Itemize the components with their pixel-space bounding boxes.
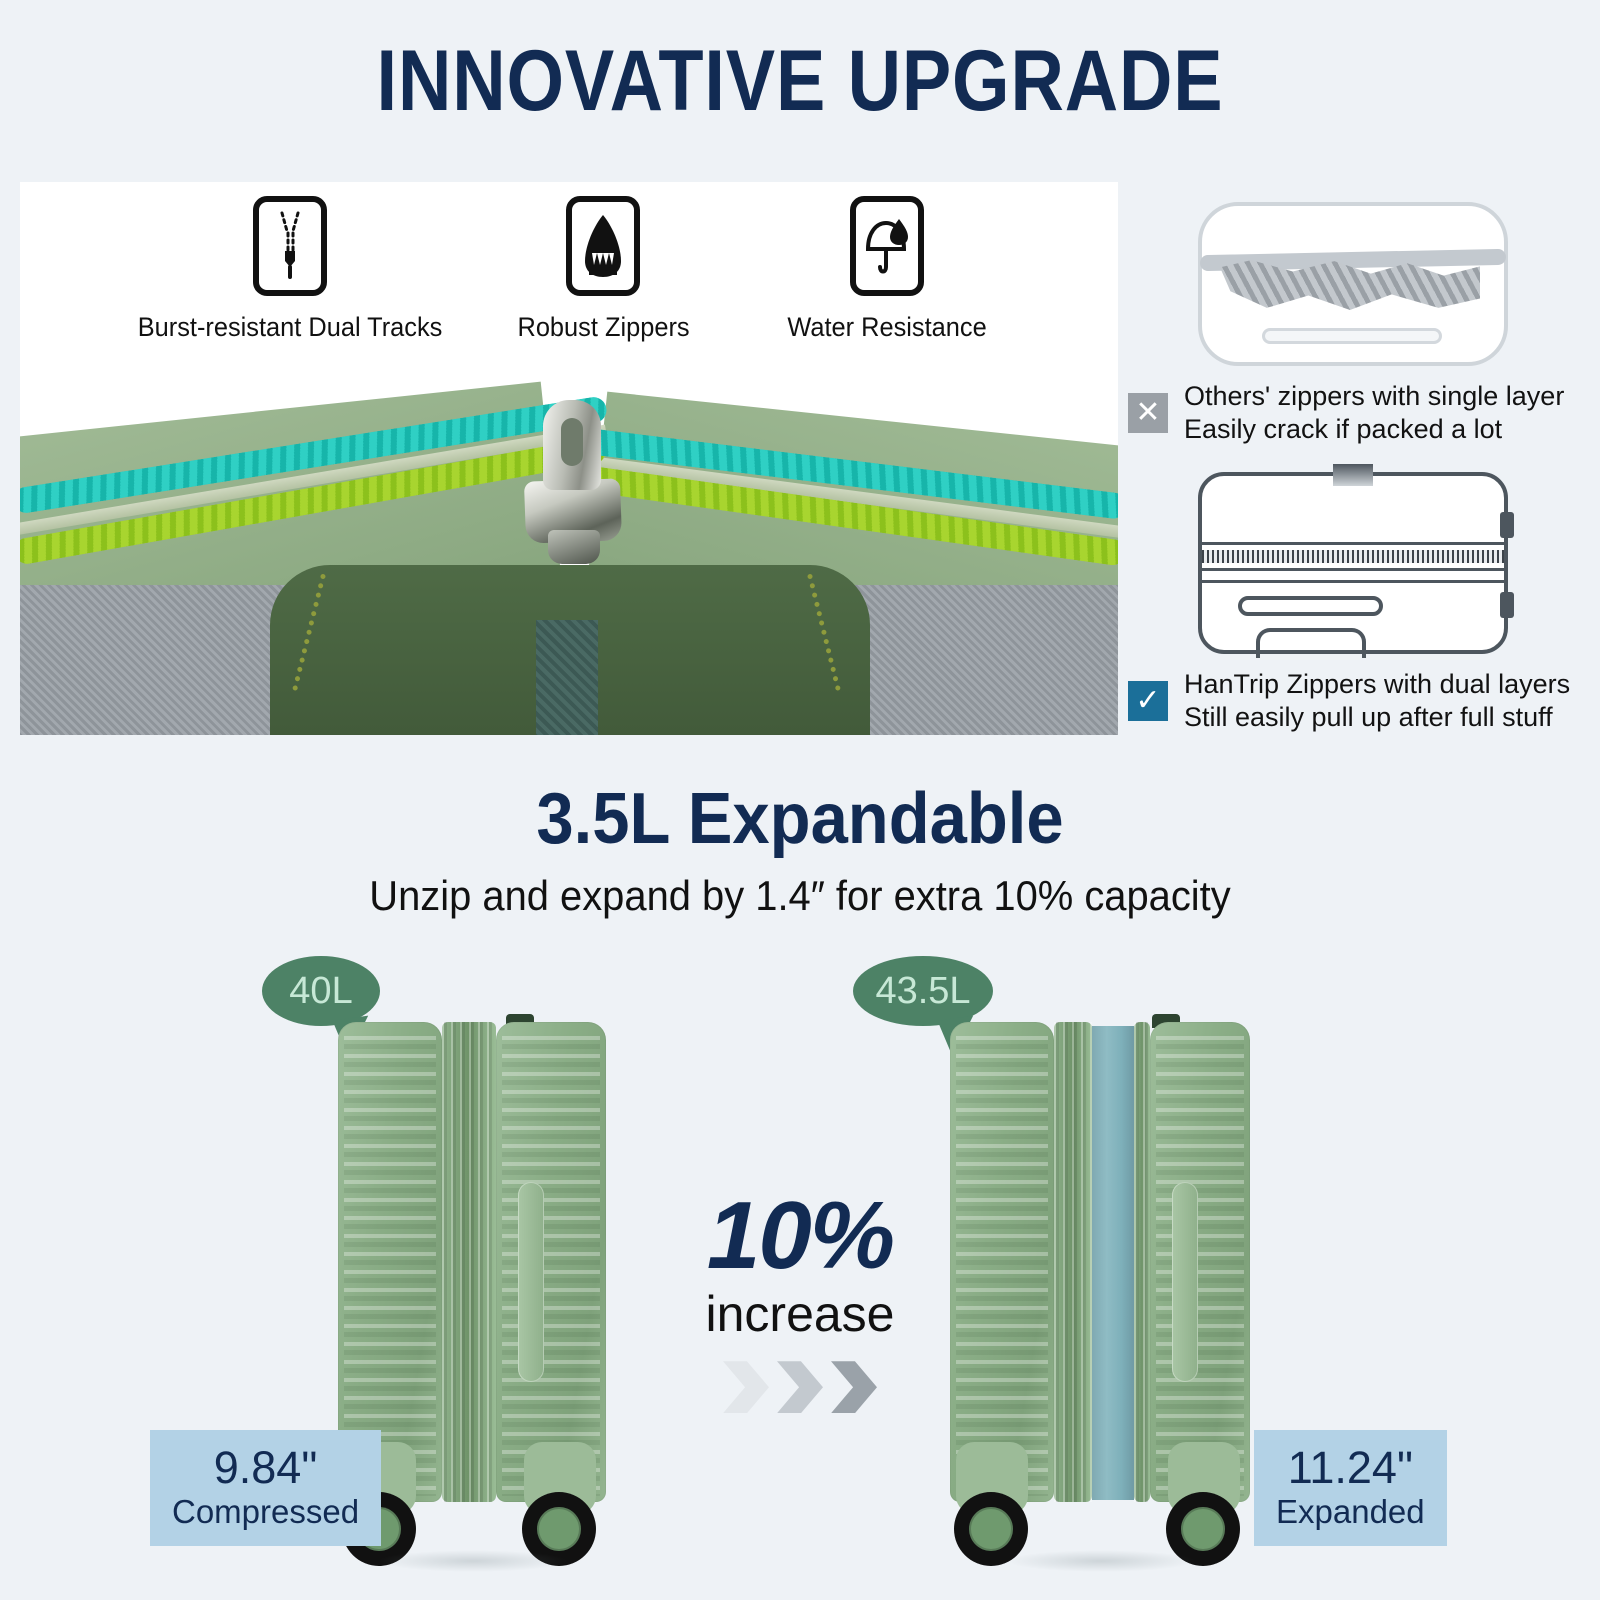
webbing-strap [536,620,598,735]
feature-icon-row: Burst-resistant Dual Tracks Robust Zippe… [20,196,1118,343]
dimension-value: 9.84" [172,1444,359,1491]
side-latch-bottom [1500,592,1514,618]
macro-zipper-photo [20,370,1118,735]
comparison-line-2: Easily crack if packed a lot [1184,413,1564,446]
increase-callout: 10% increase [0,1190,1600,1413]
percent-label: increase [0,1285,1600,1343]
dimension-caption: Expanded [1276,1495,1425,1530]
zipper-photo-card: Burst-resistant Dual Tracks Robust Zippe… [20,182,1118,735]
comparison-text-row: ✕ Others' zippers with single layer Easi… [1128,380,1588,446]
shark-jaws-icon [566,196,640,296]
feature-label: Robust Zippers [517,312,689,343]
zipper-slider-tail [548,530,600,564]
capacity-bubble-expanded: 43.5L [853,956,993,1026]
drop-shadow [378,1550,568,1572]
drop-shadow [1006,1550,1196,1572]
comparison-line-2: Still easily pull up after full stuff [1184,701,1570,734]
expandable-title: 3.5L Expandable [56,778,1544,860]
bottom-foot [1256,628,1366,658]
comparison-line-1: HanTrip Zippers with dual layers [1184,668,1570,701]
feature-label: Burst-resistant Dual Tracks [138,312,443,343]
dimension-label-expanded: 11.24" Expanded [1254,1430,1447,1546]
percent-value: 10% [0,1190,1600,1281]
feature-water-resistance: Water Resistance [766,196,1008,343]
page-title: INNOVATIVE UPGRADE [112,32,1488,131]
zipper-comparison-column: ✕ Others' zippers with single layer Easi… [1128,186,1588,734]
side-latch-top [1500,512,1514,538]
burst-zipper-illustration [1198,196,1508,366]
chevron-right-icon [777,1361,823,1413]
infographic-page: INNOVATIVE UPGRADE [0,0,1600,1600]
zipper-icon [253,196,327,296]
luggage-handle [1262,328,1442,344]
dual-layer-zipper [1202,550,1504,563]
arrow-chevrons [700,1361,900,1413]
feature-burst-resistant: Burst-resistant Dual Tracks [140,196,440,343]
check-mark-icon: ✓ [1128,681,1168,721]
seam-line-lower [1202,568,1504,571]
comparison-item-others: ✕ Others' zippers with single layer Easi… [1128,196,1588,446]
comparison-text-row: ✓ HanTrip Zippers with dual layers Still… [1128,668,1588,734]
comparison-line-1: Others' zippers with single layer [1184,380,1564,413]
comparison-text: Others' zippers with single layer Easily… [1184,380,1564,446]
chevron-right-icon [831,1361,877,1413]
expandable-subtitle: Unzip and expand by 1.4″ for extra 10% c… [40,872,1560,920]
dimension-caption: Compressed [172,1495,359,1530]
seam-line-upper [1202,542,1504,545]
seam-line-bottom [1202,580,1504,583]
luggage-outline [1198,472,1508,654]
capacity-bubble-compressed: 40L [262,956,380,1026]
top-handle [1333,464,1373,486]
feature-label: Water Resistance [787,312,986,343]
zipper-pull-hole [561,418,583,466]
dimension-label-compressed: 9.84" Compressed [150,1430,381,1546]
comparison-text: HanTrip Zippers with dual layers Still e… [1184,668,1570,734]
umbrella-droplet-icon [850,196,924,296]
chevron-right-icon [723,1361,769,1413]
intact-luggage-illustration [1198,464,1508,654]
dimension-value: 11.24" [1276,1444,1425,1491]
side-handle [1238,596,1383,616]
x-mark-icon: ✕ [1128,393,1168,433]
comparison-item-hantrip: ✓ HanTrip Zippers with dual layers Still… [1128,464,1588,734]
feature-robust-zippers: Robust Zippers [492,196,714,343]
